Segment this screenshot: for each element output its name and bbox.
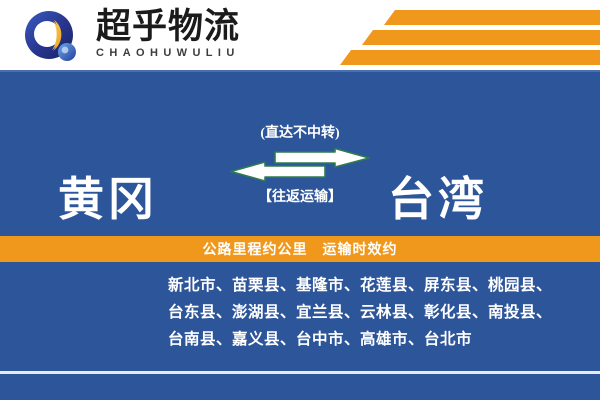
destination-city: 台湾 [388,163,488,229]
distance-duration-bar: 公路里程约公里 运输时效约 [0,236,600,262]
route-note-direct: (直达不中转) [0,122,600,142]
stripe-1 [384,10,600,25]
brand-name-pinyin: CHAOHUWULIU [96,47,346,59]
stripe-3 [340,50,600,65]
logistics-route-banner: 超乎物流 CHAOHUWULIU 黄冈 (直达不中转) 【往返运输】 台湾 公路 [0,0,600,400]
double-headed-arrow-icon [230,148,370,182]
banner-header: 超乎物流 CHAOHUWULIU [0,0,600,72]
header-decorative-stripes [338,0,600,72]
coverage-city-list: 新北市、苗栗县、基隆市、花莲县、屏东县、桃园县、 台东县、澎湖县、宜兰县、云林县… [168,272,588,353]
coverage-panel: 新北市、苗栗县、基隆市、花莲县、屏东县、桃园县、 台东县、澎湖县、宜兰县、云林县… [0,262,600,400]
brand-name-cn: 超乎物流 [96,8,346,46]
coverage-row: 新北市、苗栗县、基隆市、花莲县、屏东县、桃园县、 [168,272,588,299]
circle-crescent-logo-icon [22,10,84,64]
stripe-2 [362,30,600,45]
route-note-roundtrip: 【往返运输】 [0,186,600,206]
distance-duration-text: 公路里程约公里 运输时效约 [203,239,398,259]
brand-wordmark: 超乎物流 CHAOHUWULIU [96,8,346,66]
coverage-row: 台东县、澎湖县、宜兰县、云林县、彰化县、南投县、 [168,299,588,326]
route-panel: 黄冈 (直达不中转) 【往返运输】 台湾 [0,72,600,236]
coverage-row: 台南县、嘉义县、台中市、高雄市、台北市 [168,326,588,353]
bottom-divider [0,371,600,374]
